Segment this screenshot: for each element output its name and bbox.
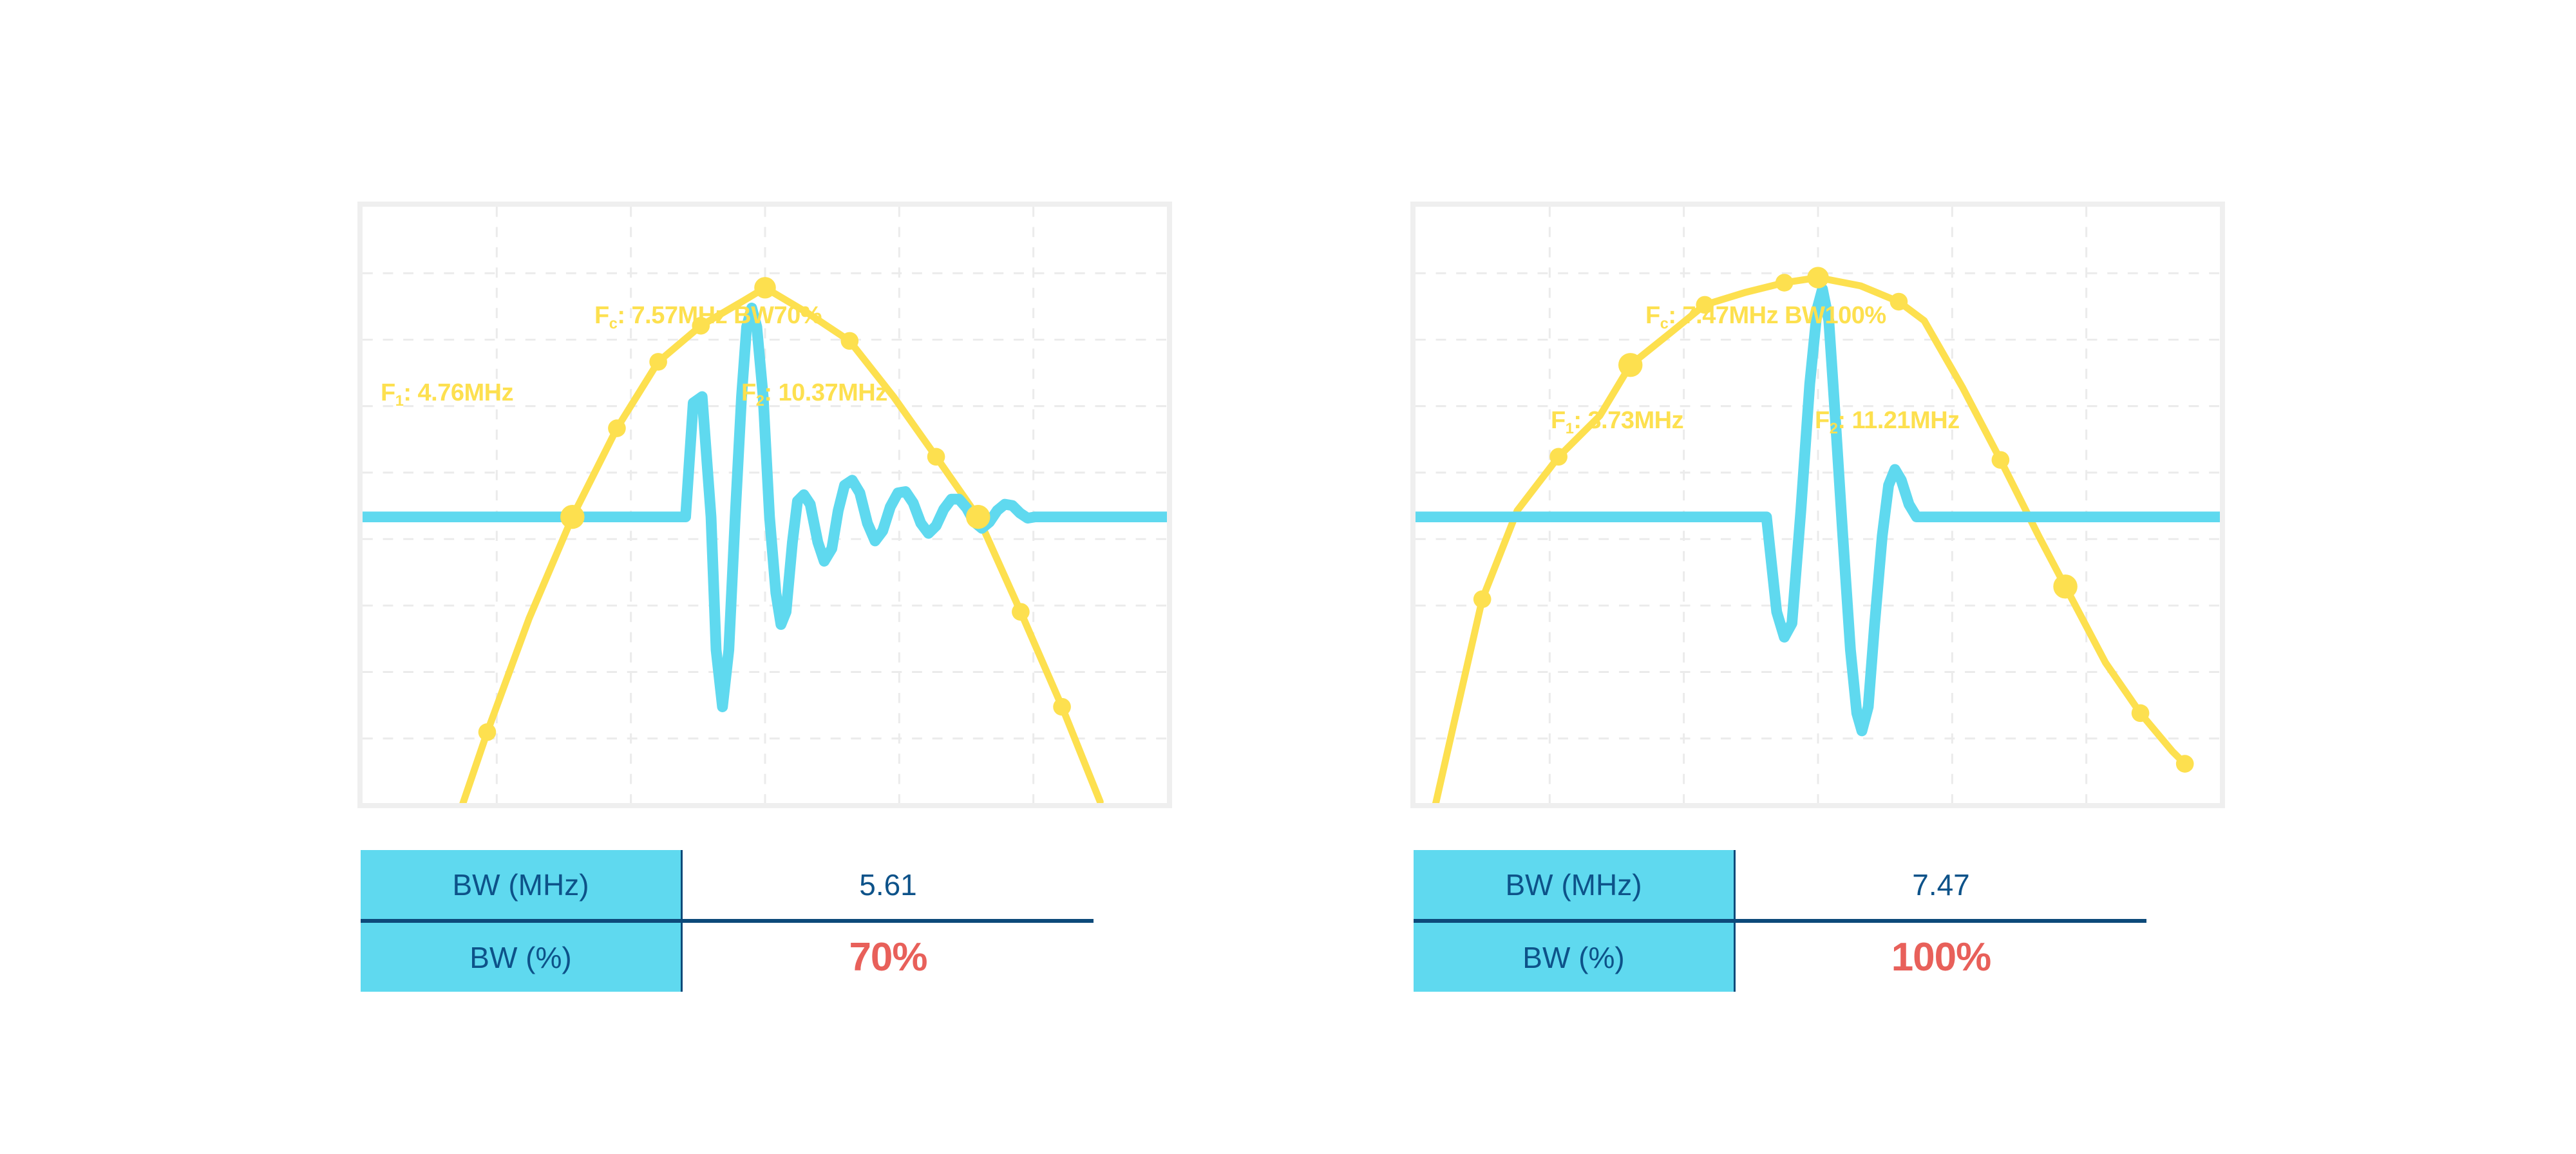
panel-bw100: Fc: 7.47MHz BW100% F1: 3.73MHz F2: 11.21…	[1356, 0, 2257, 1154]
row-label-bw-percent: BW (%)	[361, 921, 682, 992]
row-label-bw-mhz: BW (MHz)	[1414, 850, 1735, 921]
pulse-echo-waveform	[350, 308, 1182, 706]
fc-subscript: c	[1660, 315, 1669, 332]
f1-symbol: F	[1551, 407, 1566, 434]
fc-text: : 7.47MHz BW100%	[1668, 302, 1886, 329]
annotation-center-frequency-bw100: Fc: 7.47MHz BW100%	[1645, 303, 1886, 328]
f1-subscript: 1	[395, 392, 404, 409]
row-label-bw-percent: BW (%)	[1414, 921, 1735, 992]
table-row: BW (MHz) 7.47	[1414, 850, 2146, 921]
row-value-bw-mhz: 7.47	[1735, 850, 2147, 921]
chart-frame-bw100: Fc: 7.47MHz BW100% F1: 3.73MHz F2: 11.21…	[1410, 202, 2225, 808]
table-row: BW (%) 100%	[1414, 921, 2146, 992]
table-row: BW (MHz) 5.61	[361, 850, 1094, 921]
row-value-bw-mhz: 5.61	[682, 850, 1094, 921]
panel-bw70: Fc: 7.57MHz BW70% F1: 4.76MHz F2: 10.37M…	[303, 0, 1204, 1154]
annotation-center-frequency-bw70: Fc: 7.57MHz BW70%	[594, 303, 822, 328]
f2-symbol: F	[741, 379, 756, 406]
f1-subscript: 1	[1566, 420, 1574, 437]
f1-symbol: F	[381, 379, 395, 406]
row-value-bw-percent: 70%	[682, 921, 1094, 992]
spectrum-waveform-plot-bw100	[1416, 207, 2220, 803]
fc-text: : 7.57MHz BW70%	[617, 302, 822, 329]
annotation-upper-cutoff-bw70: F2: 10.37MHz	[741, 381, 887, 405]
fc-symbol: F	[1645, 302, 1660, 329]
f2-subscript: 2	[1830, 420, 1838, 437]
f2-text: : 11.21MHz	[1837, 407, 1959, 434]
table-row: BW (%) 70%	[361, 921, 1094, 992]
fc-subscript: c	[609, 315, 618, 332]
f1-text: : 3.73MHz	[1573, 407, 1683, 434]
spectrum-curve	[1428, 278, 2185, 837]
f2-text: : 10.37MHz	[764, 379, 887, 406]
f2-subscript: 2	[756, 392, 764, 409]
annotation-upper-cutoff-bw100: F2: 11.21MHz	[1815, 408, 1960, 433]
spectrum-waveform-plot-bw70	[363, 207, 1167, 803]
annotation-lower-cutoff-bw100: F1: 3.73MHz	[1551, 408, 1683, 433]
row-value-bw-percent: 100%	[1735, 921, 2147, 992]
chart-frame-bw70: Fc: 7.57MHz BW70% F1: 4.76MHz F2: 10.37M…	[357, 202, 1172, 808]
row-label-bw-mhz: BW (MHz)	[361, 850, 682, 921]
comparison-figure: Fc: 7.57MHz BW70% F1: 4.76MHz F2: 10.37M…	[0, 0, 2576, 1154]
annotation-lower-cutoff-bw70: F1: 4.76MHz	[381, 381, 513, 405]
f2-symbol: F	[1815, 407, 1830, 434]
bandwidth-table-bw100: BW (MHz) 7.47 BW (%) 100%	[1414, 850, 2146, 992]
bandwidth-table-bw70: BW (MHz) 5.61 BW (%) 70%	[361, 850, 1094, 992]
fc-symbol: F	[594, 302, 609, 329]
f1-text: : 4.76MHz	[403, 379, 513, 406]
